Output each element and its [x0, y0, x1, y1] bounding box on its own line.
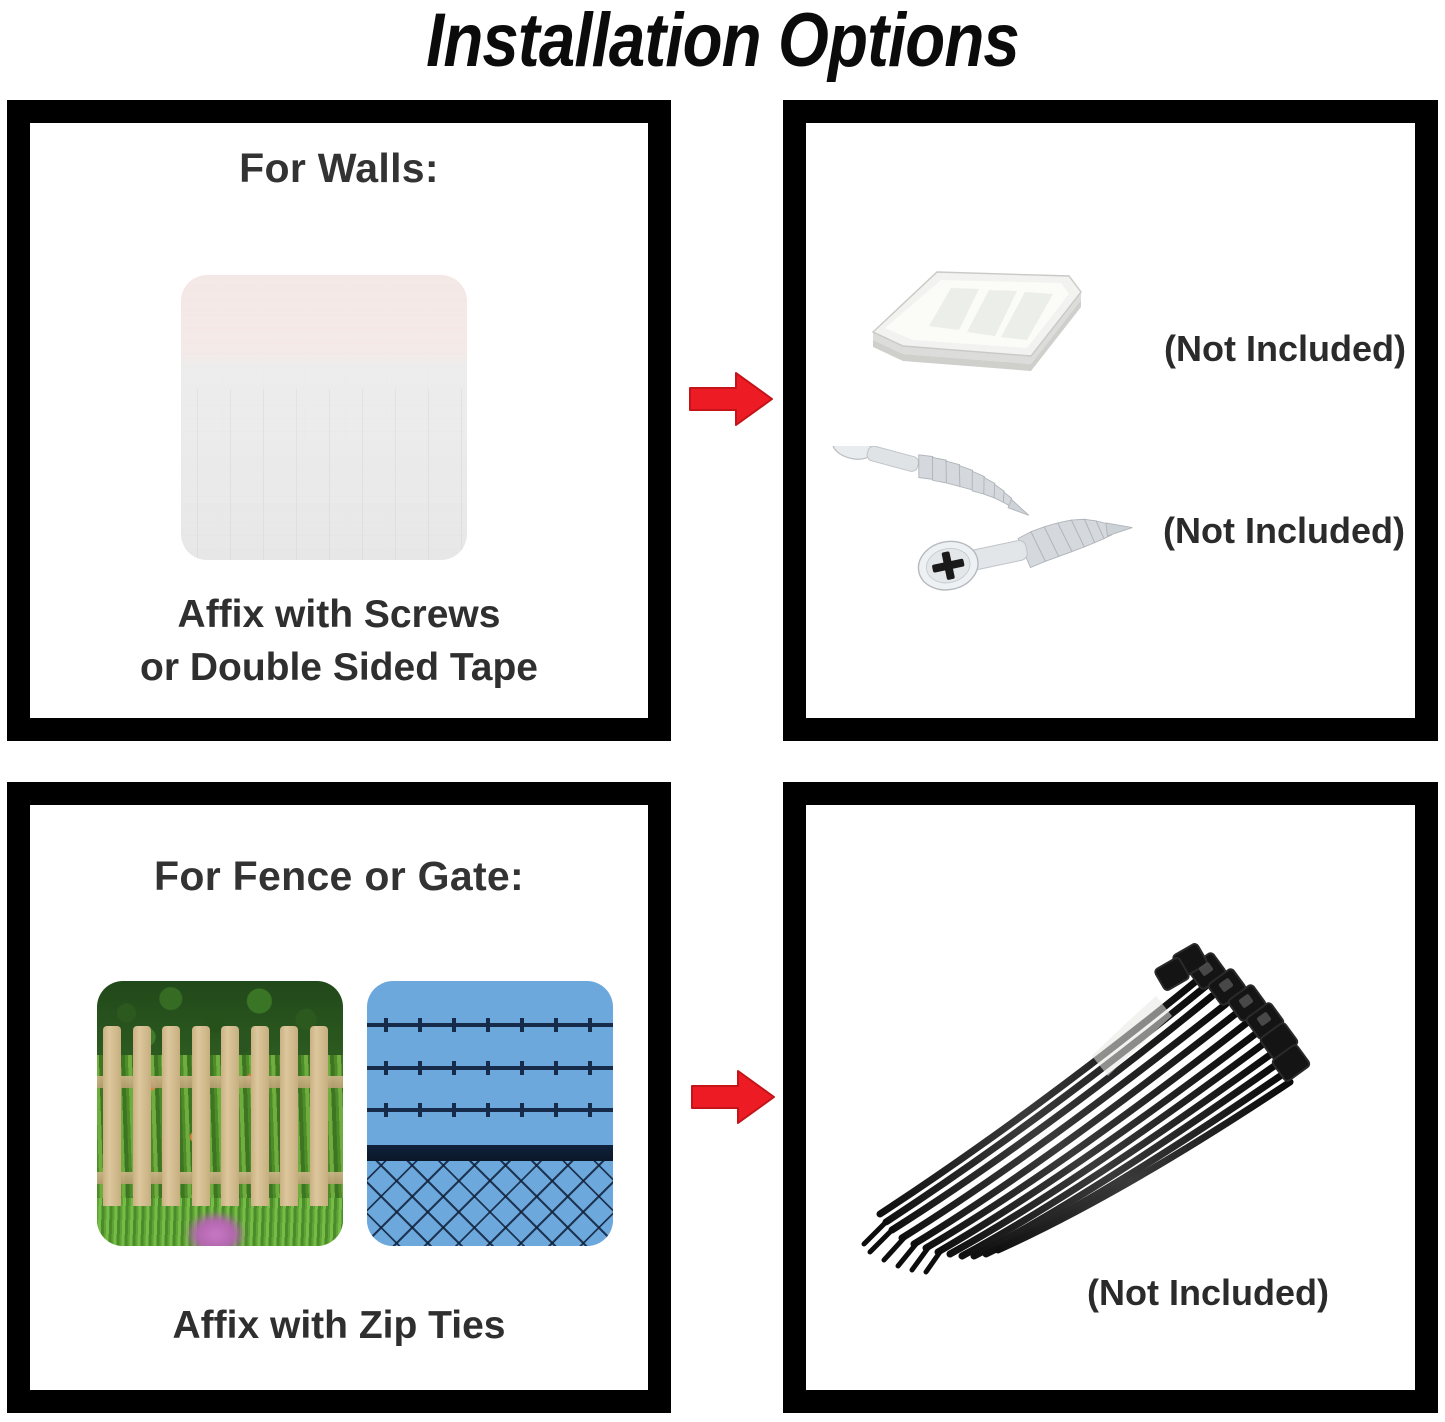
panel-wall-hardware — [783, 100, 1438, 741]
panel-for-walls-inner: For Walls: Affix with Screws or Double S… — [30, 123, 648, 718]
heading-for-fence-or-gate: For Fence or Gate: — [30, 853, 648, 900]
white-brick-wall-photo — [181, 275, 467, 560]
fence-picket — [221, 1026, 239, 1206]
fence-picket — [103, 1026, 121, 1206]
ziptie-not-included-label: (Not Included) — [1087, 1272, 1329, 1314]
fence-picket — [133, 1026, 151, 1206]
barbed-wire-strand — [367, 1066, 613, 1070]
fence-picket — [310, 1026, 328, 1206]
red-right-arrow-icon — [688, 370, 774, 428]
phillips-screw-icon — [820, 446, 1050, 521]
heading-for-walls: For Walls: — [30, 145, 648, 192]
panel-for-fence-or-gate-inner: For Fence or Gate: Affi — [30, 805, 648, 1390]
path-layer — [186, 1212, 245, 1246]
panel-for-fence-or-gate: For Fence or Gate: Affi — [7, 782, 671, 1413]
panel-wall-hardware-inner — [806, 123, 1415, 718]
caption-line-screws: Affix with Screws — [30, 588, 648, 641]
fence-picket — [162, 1026, 180, 1206]
barbed-wire-strand — [367, 1108, 613, 1112]
fence-picket — [280, 1026, 298, 1206]
caption-line-tape: or Double Sided Tape — [30, 641, 648, 694]
barbed-wire-strand — [367, 1023, 613, 1027]
red-right-arrow-icon — [690, 1068, 776, 1126]
black-zip-ties-icon — [840, 900, 1330, 1275]
chain-link-mesh — [367, 1161, 613, 1246]
page-title: Installation Options — [101, 0, 1344, 86]
screw-not-included-label: (Not Included) — [1163, 510, 1405, 552]
fence-picket — [251, 1026, 269, 1206]
double-sided-tape-icon — [855, 228, 1091, 388]
chain-link-barbed-wire-photo — [367, 981, 613, 1246]
fence-top-rail — [367, 1145, 613, 1161]
caption-for-fence: Affix with Zip Ties — [30, 1299, 648, 1352]
panel-for-walls: For Walls: Affix with Screws or Double S… — [7, 100, 671, 741]
caption-for-walls: Affix with Screws or Double Sided Tape — [30, 588, 648, 694]
phillips-screw-head-icon — [903, 512, 1141, 592]
fence-picket — [192, 1026, 210, 1206]
tape-not-included-label: (Not Included) — [1164, 328, 1406, 370]
wooden-picket-fence-photo — [97, 981, 343, 1246]
